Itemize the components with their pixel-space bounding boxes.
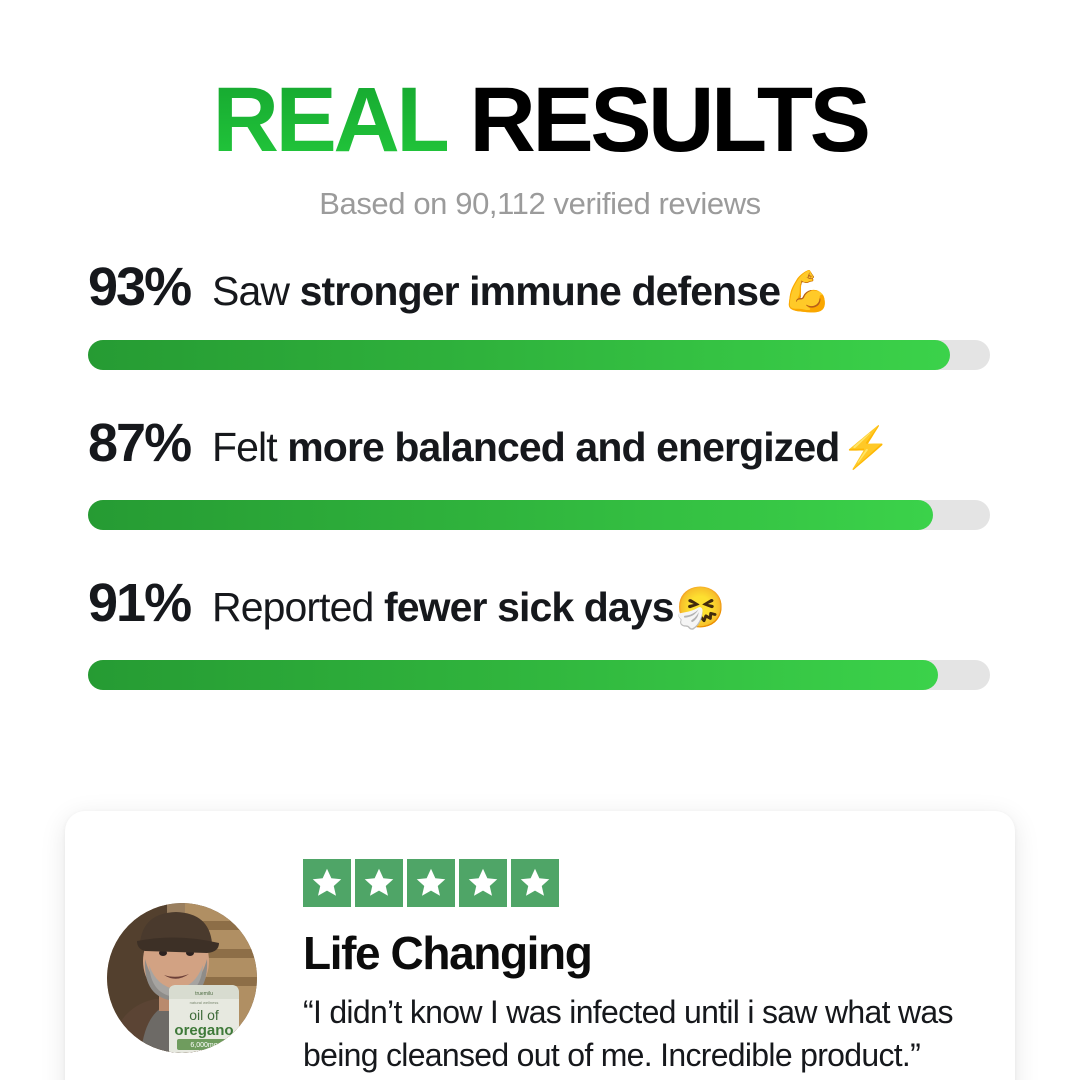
real-results-infographic: REAL RESULTS Based on 90,112 verified re… (0, 74, 1080, 1080)
high-voltage-emoji: ⚡ (841, 428, 891, 468)
avatar: truemilu natural wellness oil of oregano… (107, 903, 257, 1053)
review-card: truemilu natural wellness oil of oregano… (65, 811, 1015, 1080)
stat-description: Felt more balanced and energized (212, 427, 839, 468)
stat-highlight: fewer sick days (384, 584, 674, 630)
stat-percentage: 87% (88, 416, 212, 470)
progress-track (88, 660, 990, 690)
stat-description: Saw stronger immune defense (212, 271, 780, 312)
stat-row: 87% Felt more balanced and energized ⚡ (0, 416, 1080, 576)
progress-track (88, 500, 990, 530)
star-icon (355, 859, 403, 907)
stat-prefix: Reported (212, 584, 384, 630)
star-rating (303, 859, 953, 907)
star-icon (459, 859, 507, 907)
svg-text:oil of: oil of (189, 1007, 219, 1023)
review-quote: “I didn’t know I was infected until i sa… (303, 991, 953, 1075)
progress-fill (88, 500, 933, 530)
page-title: REAL RESULTS (0, 74, 1080, 166)
stat-row: 91% Reported fewer sick days 🤧 (0, 576, 1080, 736)
title-dark-word: RESULTS (469, 69, 867, 171)
svg-text:6,000mg: 6,000mg (190, 1042, 217, 1049)
sneezing-face-emoji: 🤧 (676, 588, 726, 628)
stat-highlight: more balanced and energized (287, 424, 839, 470)
star-icon (407, 859, 455, 907)
title-green-word: REAL (213, 69, 448, 171)
stat-label-line: 87% Felt more balanced and energized ⚡ (0, 416, 1080, 488)
stat-label-line: 93% Saw stronger immune defense 💪 (0, 256, 1080, 328)
stat-prefix: Saw (212, 268, 300, 314)
progress-fill (88, 660, 938, 690)
review-count-subtitle: Based on 90,112 verified reviews (0, 186, 1080, 222)
star-icon (303, 859, 351, 907)
progress-track (88, 340, 990, 370)
stat-percentage: 93% (88, 260, 212, 314)
stat-percentage: 91% (88, 576, 212, 630)
stat-row: 93% Saw stronger immune defense 💪 (0, 256, 1080, 416)
stat-label-line: 91% Reported fewer sick days 🤧 (0, 576, 1080, 648)
stats-list: 93% Saw stronger immune defense 💪 87% Fe… (0, 256, 1080, 736)
svg-text:truemilu: truemilu (195, 991, 213, 997)
flexed-biceps-emoji: 💪 (782, 272, 832, 312)
stat-highlight: stronger immune defense (300, 268, 781, 314)
review-title: Life Changing (303, 929, 953, 977)
stat-prefix: Felt (212, 424, 287, 470)
svg-text:natural wellness: natural wellness (190, 1000, 219, 1005)
star-icon (511, 859, 559, 907)
svg-text:oregano: oregano (174, 1022, 233, 1039)
review-body: Life Changing “I didn’t know I was infec… (303, 855, 953, 1080)
stat-description: Reported fewer sick days (212, 587, 674, 628)
progress-fill (88, 340, 950, 370)
